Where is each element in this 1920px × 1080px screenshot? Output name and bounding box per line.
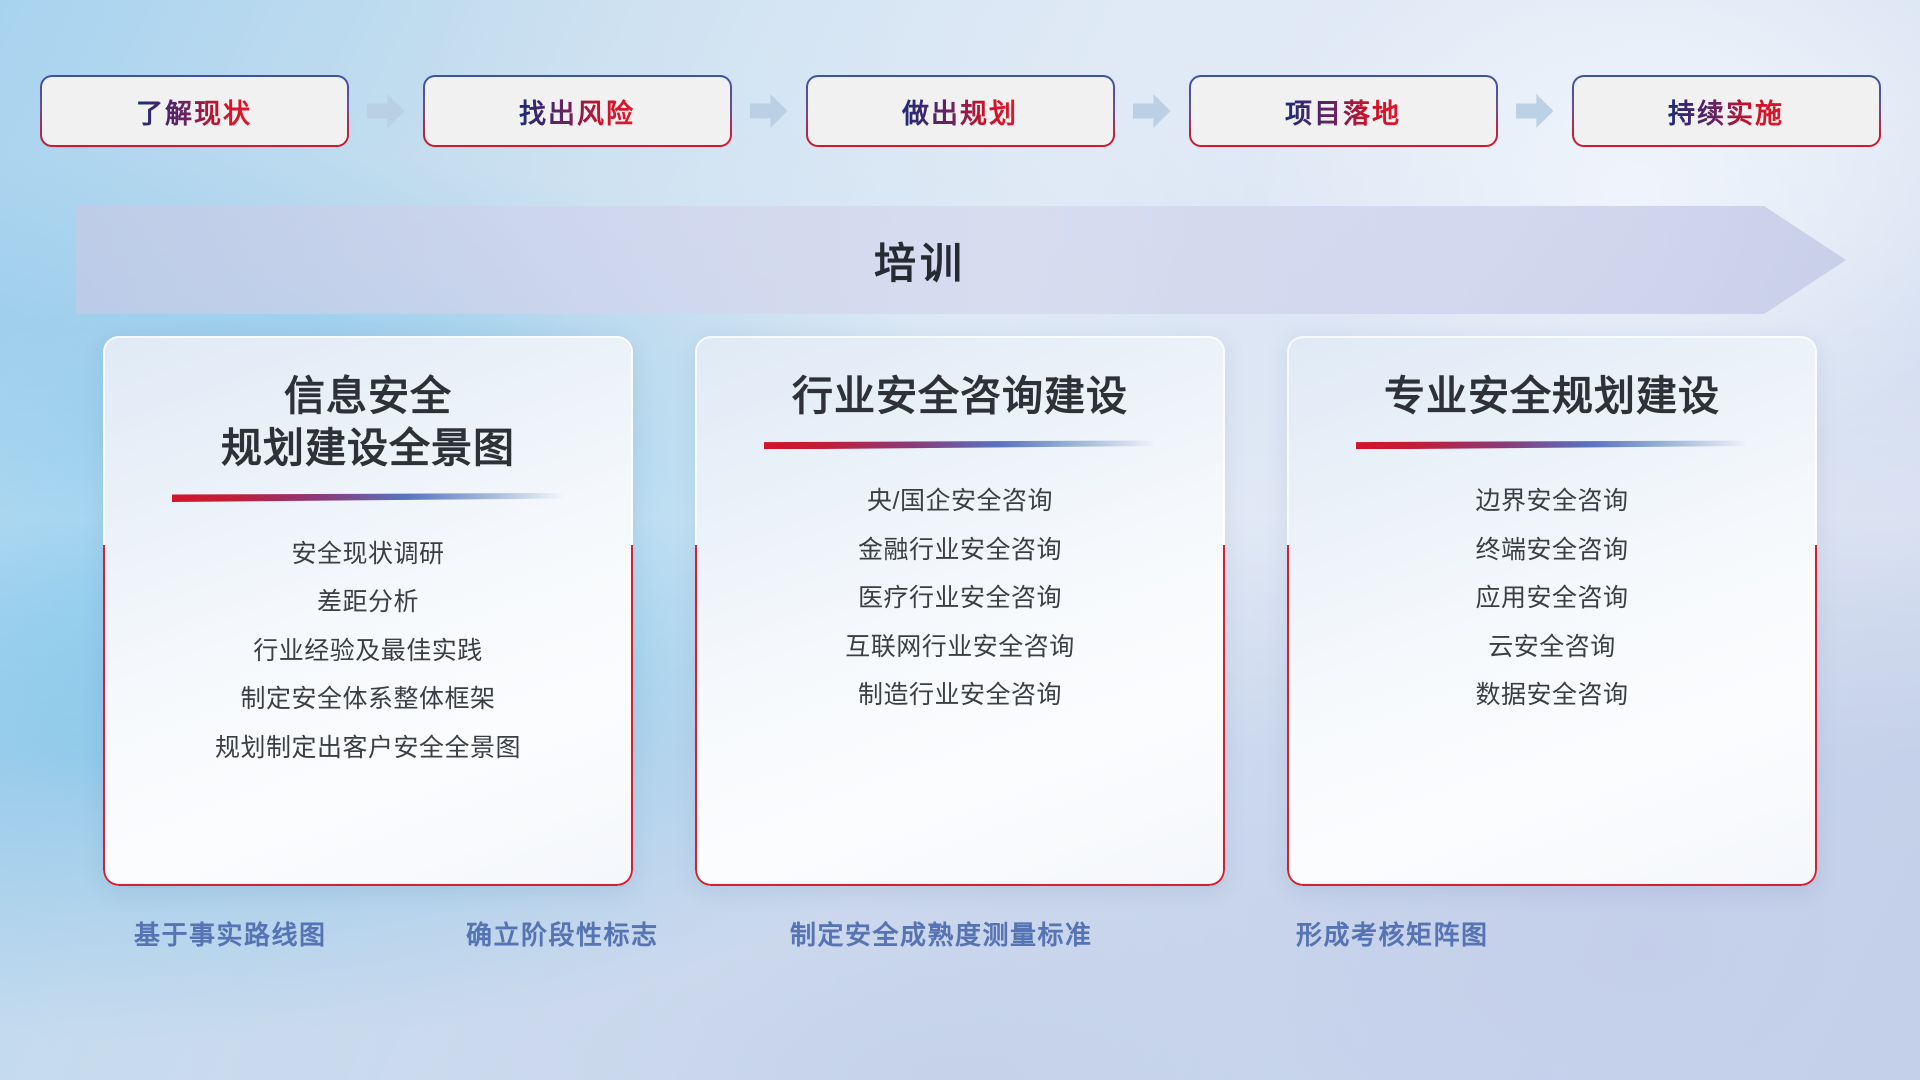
step-pill-label: 找出风险 — [519, 92, 635, 131]
list-item: 数据安全咨询 — [1475, 677, 1628, 715]
card-item-list: 央/国企安全咨询 金融行业安全咨询 医疗行业安全咨询 互联网行业安全咨询 制造行… — [721, 483, 1199, 715]
list-item: 金融行业安全咨询 — [858, 532, 1062, 570]
training-banner-title: 培训 — [76, 206, 1764, 314]
step-pill-label: 持续实施 — [1668, 92, 1784, 131]
footnote-label-1: 基于事实路线图 — [134, 915, 327, 952]
list-item: 医疗行业安全咨询 — [858, 580, 1062, 618]
list-item: 边界安全咨询 — [1475, 483, 1628, 521]
process-step-bar: 了解现状 找出风险 做出规划 项目落地 持续实施 — [0, 76, 1920, 146]
card-item-list: 边界安全咨询 终端安全咨询 应用安全咨询 云安全咨询 数据安全咨询 — [1313, 483, 1791, 715]
step-pill-label: 了解现状 — [136, 92, 252, 131]
list-item: 云安全咨询 — [1488, 629, 1616, 667]
step-pill-5[interactable]: 持续实施 — [1574, 77, 1879, 145]
card-industry-security-consulting[interactable]: 行业安全咨询建设 央/国企安全咨询 金融行业安全咨询 医疗行业安全咨询 互联网行… — [695, 336, 1225, 886]
card-row: 信息安全 规划建设全景图 安全现状调研 差距分析 行业经验及最佳实践 制定安全体… — [0, 336, 1920, 886]
arrow-right-icon — [750, 94, 788, 128]
footnote-label-2: 确立阶段性标志 — [466, 915, 659, 952]
step-pill-1[interactable]: 了解现状 — [42, 77, 347, 145]
card-information-security-panorama[interactable]: 信息安全 规划建设全景图 安全现状调研 差距分析 行业经验及最佳实践 制定安全体… — [103, 336, 633, 886]
card-item-list: 安全现状调研 差距分析 行业经验及最佳实践 制定安全体系整体框架 规划制定出客户… — [129, 536, 607, 768]
step-pill-3[interactable]: 做出规划 — [808, 77, 1113, 145]
list-item: 制造行业安全咨询 — [858, 677, 1062, 715]
card-divider — [764, 440, 1156, 449]
training-banner: 培训 — [76, 206, 1846, 314]
card-divider — [1356, 440, 1748, 449]
arrow-right-icon — [1516, 94, 1554, 128]
list-item: 行业经验及最佳实践 — [253, 633, 483, 671]
card-title: 专业安全规划建设 — [1313, 370, 1791, 422]
footnote-label-3: 制定安全成熟度测量标准 — [790, 915, 1093, 952]
step-pill-2[interactable]: 找出风险 — [425, 77, 730, 145]
list-item: 应用安全咨询 — [1475, 580, 1628, 618]
card-title: 行业安全咨询建设 — [721, 370, 1199, 422]
card-professional-security-planning[interactable]: 专业安全规划建设 边界安全咨询 终端安全咨询 应用安全咨询 云安全咨询 数据安全… — [1287, 336, 1817, 886]
list-item: 终端安全咨询 — [1475, 532, 1628, 570]
arrow-right-icon — [367, 94, 405, 128]
footnote-row: 基于事实路线图 确立阶段性标志 制定安全成熟度测量标准 形成考核矩阵图 — [0, 915, 1920, 965]
list-item: 差距分析 — [317, 584, 419, 622]
list-item: 央/国企安全咨询 — [867, 483, 1053, 521]
list-item: 安全现状调研 — [291, 536, 444, 574]
card-divider — [172, 493, 564, 502]
step-pill-4[interactable]: 项目落地 — [1191, 77, 1496, 145]
card-title: 信息安全 规划建设全景图 — [129, 370, 607, 475]
footnote-label-4: 形成考核矩阵图 — [1296, 915, 1489, 952]
step-pill-label: 项目落地 — [1285, 92, 1401, 131]
list-item: 规划制定出客户安全全景图 — [215, 730, 521, 768]
list-item: 制定安全体系整体框架 — [240, 681, 495, 719]
arrow-right-icon — [1133, 94, 1171, 128]
step-pill-label: 做出规划 — [902, 92, 1018, 131]
list-item: 互联网行业安全咨询 — [845, 629, 1075, 667]
